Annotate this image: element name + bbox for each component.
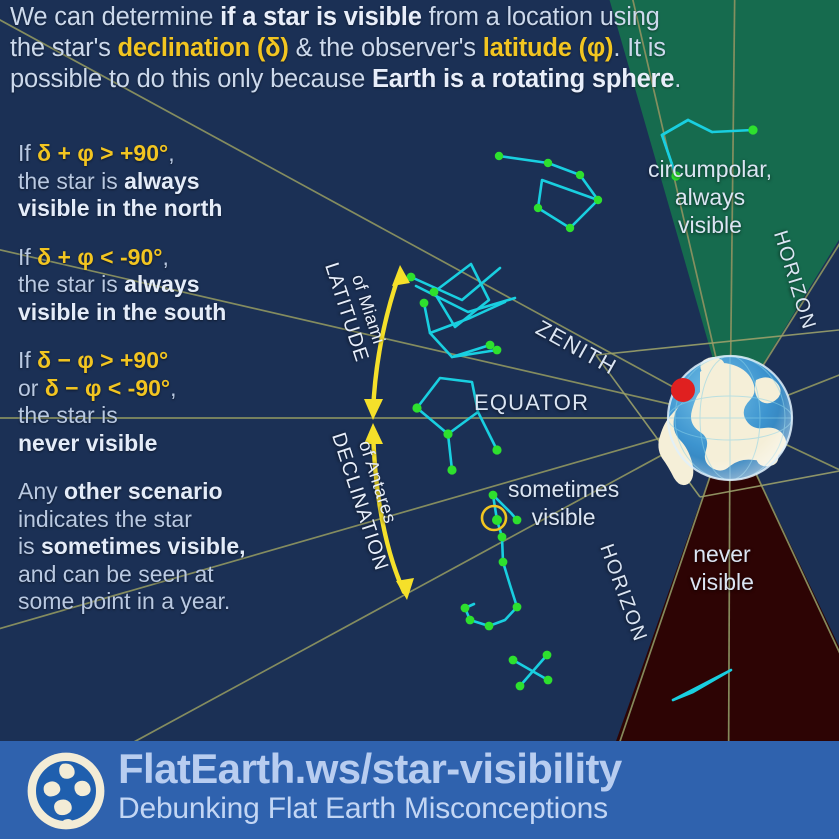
footer-url[interactable]: FlatEarth.ws/star-visibility	[118, 745, 834, 792]
rule4-l1a: Any	[18, 478, 64, 504]
rules-list: If δ + φ > +90°, the star is always visi…	[18, 140, 348, 637]
rule2-l2a: the star is	[18, 271, 124, 297]
rule-sometimes-visible: Any other scenario indicates the star is…	[18, 478, 348, 616]
rule-always-visible-south: If δ + φ < -90°, the star is always visi…	[18, 244, 348, 327]
rule2-if: If	[18, 244, 37, 270]
header-l2-e: . It is	[613, 34, 665, 62]
header-line-2: the star's declination (δ) & the observe…	[10, 33, 832, 64]
rule1-line3: visible in the north	[18, 195, 348, 223]
header-l2-a: the star's	[10, 34, 118, 62]
rule1-line2: the star is always	[18, 168, 348, 196]
rule2-line2: the star is always	[18, 271, 348, 299]
rule1-comma: ,	[168, 140, 174, 166]
rule3-or: or	[18, 375, 45, 401]
rule3-line3: the star is	[18, 402, 348, 430]
rule1-l2b: always	[124, 168, 199, 194]
footer-bar: FlatEarth.ws/star-visibility Debunking F…	[0, 741, 839, 839]
label-never-visible: never visible	[690, 540, 754, 596]
rule3-formula-2: δ − φ < -90°	[45, 375, 170, 401]
rule-always-visible-north: If δ + φ > +90°, the star is always visi…	[18, 140, 348, 223]
rule4-l3a: is	[18, 533, 41, 559]
rule4-l2: indicates the star	[18, 506, 192, 532]
rule3-line4: never visible	[18, 430, 348, 458]
rule3-line2: or δ − φ < -90°,	[18, 375, 348, 403]
rule3-tail2: ,	[170, 375, 176, 401]
label-circumpolar: circumpolar, always visible	[648, 155, 772, 239]
header-text: We can determine if a star is visible fr…	[10, 2, 832, 95]
header-line-1: We can determine if a star is visible fr…	[10, 2, 832, 33]
rule2-line3: visible in the south	[18, 299, 348, 327]
rule4-line1: Any other scenario	[18, 478, 348, 506]
flatearth-logo-icon[interactable]	[26, 751, 106, 831]
rule-never-visible: If δ − φ > +90° or δ − φ < -90°, the sta…	[18, 347, 348, 457]
rule4-l5: some point in a year.	[18, 588, 230, 614]
rule4-l4: and can be seen at	[18, 561, 214, 587]
rule1-l2a: the star is	[18, 168, 124, 194]
rule3-line1: If δ − φ > +90°	[18, 347, 348, 375]
observer-marker-miami	[671, 378, 695, 402]
footer-tagline: Debunking Flat Earth Misconceptions	[118, 792, 834, 826]
header-l1-c: from a location using	[422, 3, 660, 31]
rule1-l3: visible in the north	[18, 195, 222, 221]
header-l3-c: .	[674, 65, 681, 93]
header-latitude-term: latitude (φ)	[483, 34, 614, 62]
label-sometimes-visible: sometimes visible	[508, 475, 619, 531]
rule1-if: If	[18, 140, 37, 166]
rule4-line3: is sometimes visible,	[18, 533, 348, 561]
rule2-l3: visible in the south	[18, 299, 226, 325]
header-l3-bold: Earth is a rotating sphere	[372, 65, 674, 93]
rule4-l3b: sometimes visible,	[41, 533, 246, 559]
rule4-l1b: other scenario	[64, 478, 223, 504]
header-line-3: possible to do this only because Earth i…	[10, 64, 832, 95]
header-l2-c: & the observer's	[289, 34, 483, 62]
rule4-line5: some point in a year.	[18, 588, 348, 616]
rule2-formula: δ + φ < -90°	[37, 244, 162, 270]
rule4-line4: and can be seen at	[18, 561, 348, 589]
rule2-comma: ,	[162, 244, 168, 270]
label-equator: EQUATOR	[474, 390, 589, 416]
rule4-line2: indicates the star	[18, 506, 348, 534]
header-l3-a: possible to do this only because	[10, 65, 372, 93]
rule1-line1: If δ + φ > +90°,	[18, 140, 348, 168]
infographic-page: We can determine if a star is visible fr…	[0, 0, 839, 839]
rule2-l2b: always	[124, 271, 199, 297]
header-l1-bold: if a star is visible	[220, 3, 422, 31]
rule3-if: If	[18, 347, 37, 373]
rule3-formula-1: δ − φ > +90°	[37, 347, 168, 373]
rule2-line1: If δ + φ < -90°,	[18, 244, 348, 272]
header-l1-a: We can determine	[10, 3, 220, 31]
rule1-formula: δ + φ > +90°	[37, 140, 168, 166]
header-declination-term: declination (δ)	[118, 34, 289, 62]
rule3-l4: never visible	[18, 430, 157, 456]
rule3-l3: the star is	[18, 402, 118, 428]
